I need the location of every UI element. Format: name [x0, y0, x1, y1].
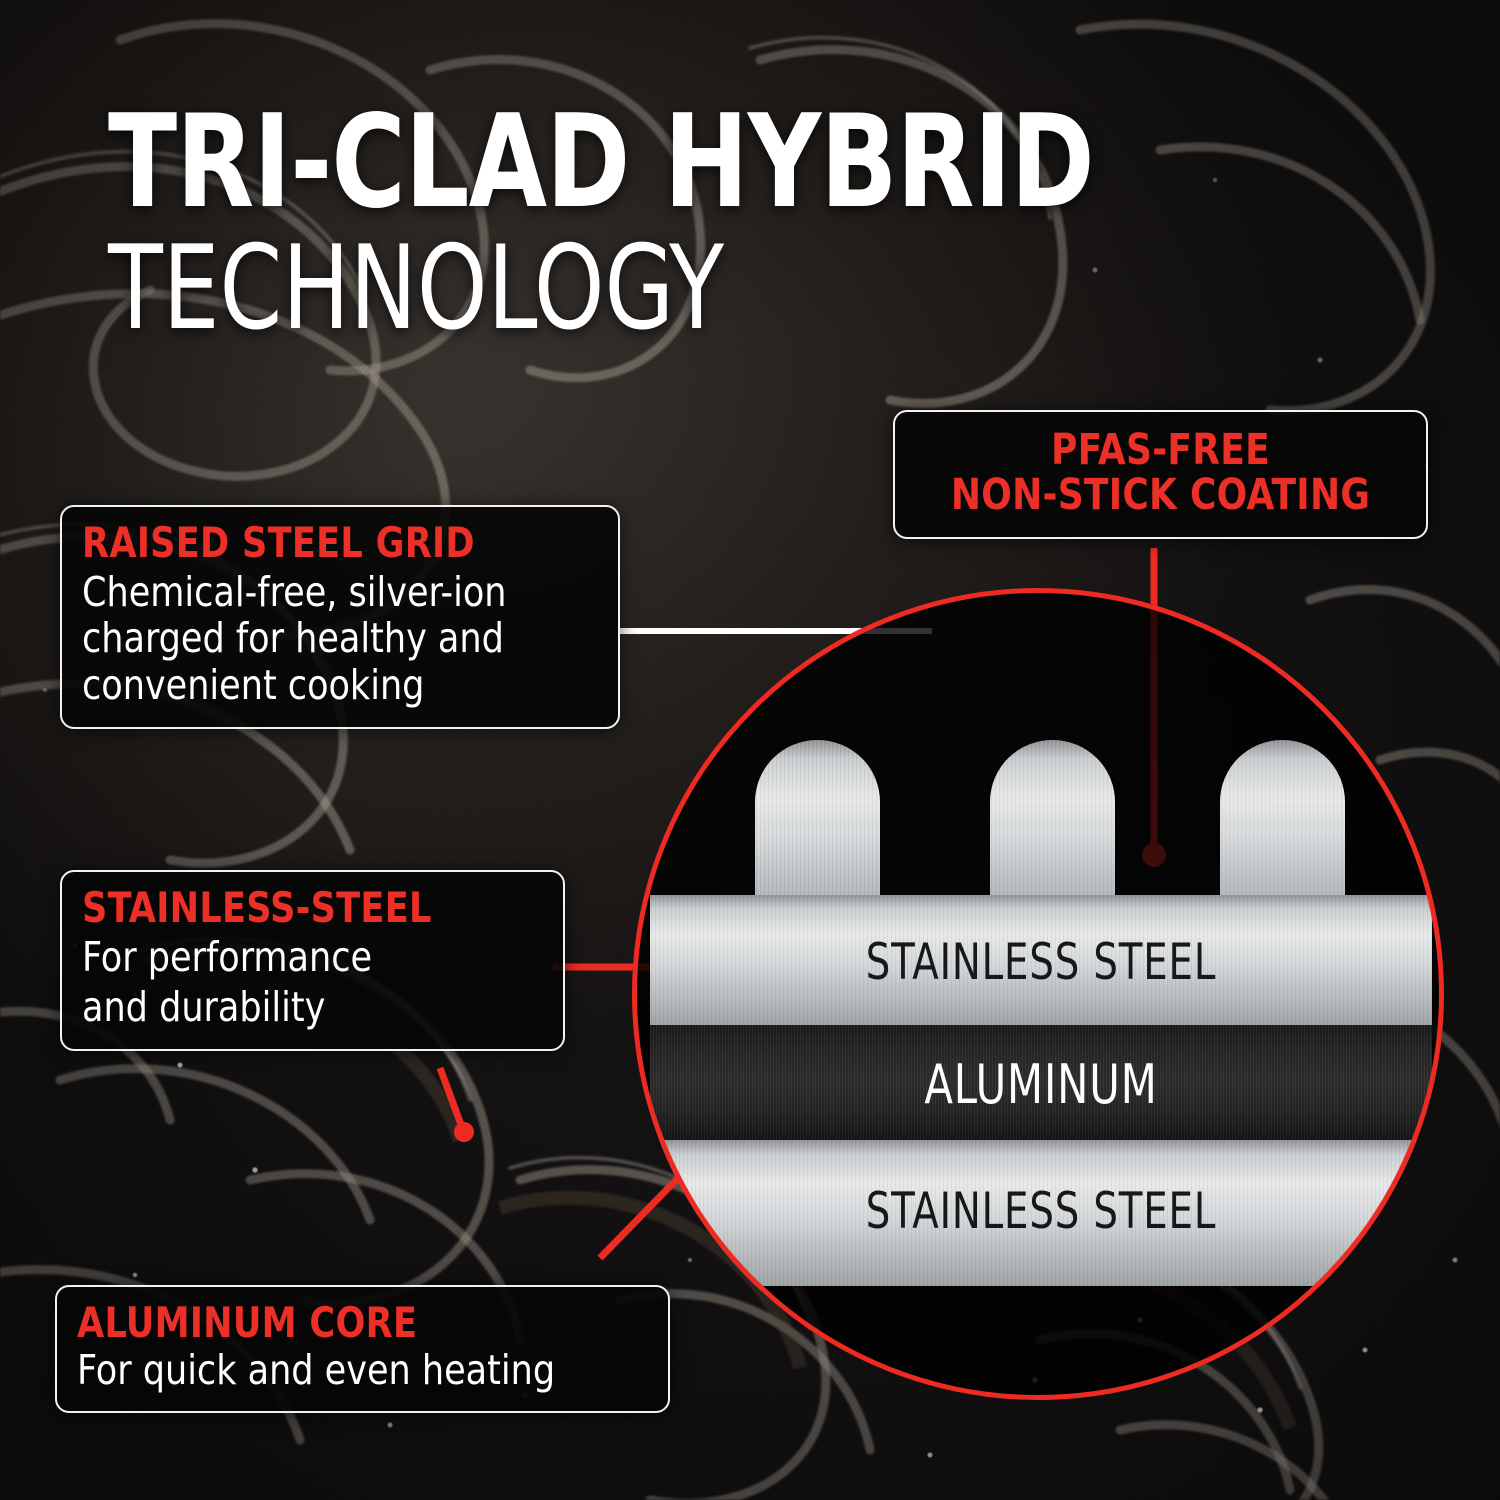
title-line-2: TECHNOLOGY [108, 236, 1071, 343]
tri-clad-cross-section-diagram: STAINLESS STEEL ALUMINUM STAINLESS STEEL [632, 588, 1444, 1400]
callout-raised-steel-grid[interactable]: RAISED STEEL GRID Chemical-free, silver-… [60, 505, 620, 729]
callout-heading-pfas-free-line2: NON-STICK COATING [930, 473, 1390, 518]
callout-body-stainless-steel-line1: For performance [82, 934, 520, 981]
callout-heading-pfas-free-line1: PFAS-FREE [930, 428, 1390, 473]
page-title: TRI-CLAD HYBRID TECHNOLOGY [108, 104, 1228, 342]
diagram-circle-ring [632, 588, 1444, 1400]
title-line-1: TRI-CLAD HYBRID [108, 104, 1094, 222]
callout-aluminum-core[interactable]: ALUMINUM CORE For quick and even heating [55, 1285, 670, 1413]
callout-heading-aluminum-core: ALUMINUM CORE [77, 1301, 608, 1345]
callout-body-raised-steel-grid: Chemical-free, silver-ion charged for he… [82, 569, 572, 709]
callout-heading-stainless-steel: STAINLESS-STEEL [82, 886, 511, 930]
infographic-canvas: TRI-CLAD HYBRID TECHNOLOGY STA [0, 0, 1500, 1500]
callout-body-aluminum-core: For quick and even heating [77, 1347, 619, 1394]
callout-body-stainless-steel-line2: and durability [82, 984, 520, 1031]
callout-heading-raised-steel-grid: RAISED STEEL GRID [82, 521, 562, 565]
callout-pfas-free[interactable]: PFAS-FREE NON-STICK COATING [893, 410, 1428, 539]
callout-stainless-steel[interactable]: STAINLESS-STEEL For performance and dura… [60, 870, 565, 1051]
